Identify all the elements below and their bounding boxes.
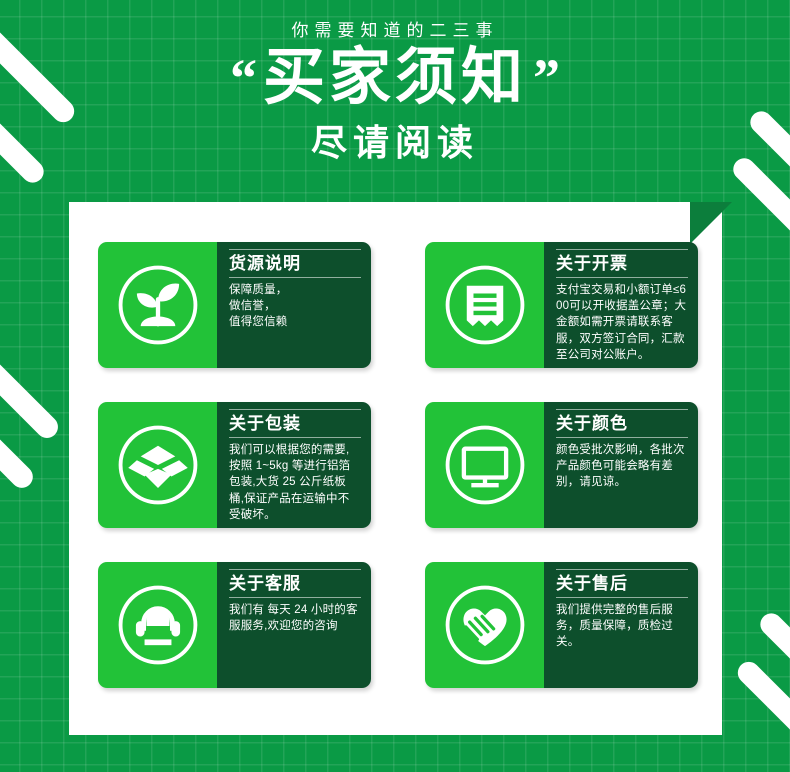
card-text: 保障质量， 做信誉， 值得您信赖 [229, 282, 361, 331]
handshake-heart-icon [437, 577, 533, 673]
card-text: 支付宝交易和小额订单≤600可以开收据盖公章；大金额如需开票请联系客服，双方签订… [556, 282, 688, 364]
invoice-icon [437, 257, 533, 353]
card-icon-panel [425, 242, 544, 368]
card-body: 关于售后 我们提供完整的售后服务，质量保障，质检过关。 [544, 562, 698, 688]
card-title: 关于售后 [556, 569, 688, 598]
card-icon-panel [98, 402, 217, 528]
header-eyebrow: 你需要知道的二三事 [0, 0, 790, 41]
card-body: 关于包装 我们可以根据您的需要,按照 1~5kg 等进行铝箔包装,大货 25 公… [217, 402, 371, 528]
open-box-icon [110, 417, 206, 513]
info-card[interactable]: 关于客服 我们有 每天 24 小时的客服服务,欢迎您的咨询 [98, 562, 371, 688]
page-title: 买家须知 [263, 45, 527, 110]
info-card[interactable]: 关于包装 我们可以根据您的需要,按照 1~5kg 等进行铝箔包装,大货 25 公… [98, 402, 371, 528]
card-body: 关于客服 我们有 每天 24 小时的客服服务,欢迎您的咨询 [217, 562, 371, 688]
info-card[interactable]: 关于售后 我们提供完整的售后服务，质量保障，质检过关。 [425, 562, 698, 688]
card-icon-panel [425, 402, 544, 528]
card-icon-panel [425, 562, 544, 688]
card-text: 我们有 每天 24 小时的客服服务,欢迎您的咨询 [229, 602, 361, 635]
fold-triangle [690, 202, 732, 244]
card-text: 我们可以根据您的需要,按照 1~5kg 等进行铝箔包装,大货 25 公斤纸板桶,… [229, 442, 361, 524]
card-text: 我们提供完整的售后服务，质量保障，质检过关。 [556, 602, 688, 651]
card-title: 货源说明 [229, 249, 361, 278]
card-body: 关于开票 支付宝交易和小额订单≤600可以开收据盖公章；大金额如需开票请联系客服… [544, 242, 698, 368]
quote-close-mark: ” [533, 51, 560, 105]
page-fold-corner [690, 202, 732, 244]
card-body: 货源说明 保障质量， 做信誉， 值得您信赖 [217, 242, 371, 368]
card-title: 关于开票 [556, 249, 688, 278]
quote-open-mark: “ [230, 51, 257, 105]
card-icon-panel [98, 242, 217, 368]
card-icon-panel [98, 562, 217, 688]
header-subtitle: 尽请阅读 [0, 114, 790, 166]
card-text: 颜色受批次影响，各批次产品颜色可能会略有差别，请见谅。 [556, 442, 688, 491]
card-title: 关于包装 [229, 409, 361, 438]
sprout-icon [110, 257, 206, 353]
info-card[interactable]: 关于颜色 颜色受批次影响，各批次产品颜色可能会略有差别，请见谅。 [425, 402, 698, 528]
card-title: 关于客服 [229, 569, 361, 598]
info-card[interactable]: 关于开票 支付宝交易和小额订单≤600可以开收据盖公章；大金额如需开票请联系客服… [425, 242, 698, 368]
monitor-icon [437, 417, 533, 513]
info-card-grid: 货源说明 保障质量， 做信誉， 值得您信赖 关于开票 支付宝交易和小额订单≤60… [98, 242, 698, 688]
header: 你需要知道的二三事 “ 买家须知 ” 尽请阅读 [0, 0, 790, 202]
card-title: 关于颜色 [556, 409, 688, 438]
header-title-row: “ 买家须知 ” [0, 45, 790, 110]
card-body: 关于颜色 颜色受批次影响，各批次产品颜色可能会略有差别，请见谅。 [544, 402, 698, 528]
info-card[interactable]: 货源说明 保障质量， 做信誉， 值得您信赖 [98, 242, 371, 368]
headset-icon [110, 577, 206, 673]
